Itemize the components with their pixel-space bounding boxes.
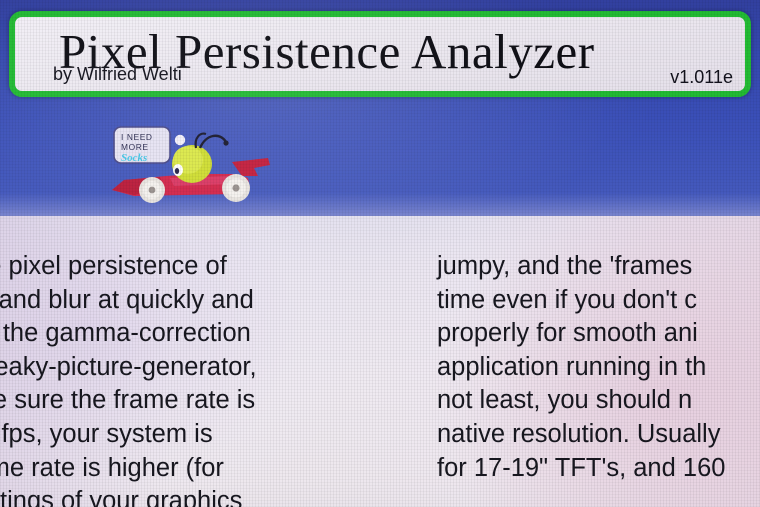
text-column-left: the pixel persistence of ks and blur at …	[0, 250, 257, 507]
version-label: v1.011e	[670, 67, 733, 88]
application-screenshot: Pixel Persistence Analyzer by Wilfried W…	[0, 0, 760, 507]
text-line: settings of your graphics	[0, 485, 257, 507]
svg-text:Socks: Socks	[121, 152, 147, 164]
text-line: not least, you should n	[437, 384, 725, 418]
body-text-region: the pixel persistence of ks and blur at …	[0, 216, 760, 507]
title-plate: Pixel Persistence Analyzer by Wilfried W…	[9, 11, 751, 97]
racecar-logo: I NEED MORE Socks	[108, 118, 278, 210]
text-line: ks and blur at quickly and	[0, 284, 257, 318]
text-line: properly for smooth ani	[437, 317, 725, 351]
author-credit: by Wilfried Welti	[53, 64, 182, 85]
text-column-right: jumpy, and the 'frames time even if you …	[437, 250, 725, 485]
text-line: rm the gamma-correction	[0, 317, 257, 351]
svg-text:MORE: MORE	[121, 142, 149, 152]
text-line: native resolution. Usually	[437, 418, 725, 452]
text-line: time even if you don't c	[437, 284, 725, 318]
text-line: application running in th	[437, 351, 725, 385]
text-line: streaky-picture-generator,	[0, 351, 257, 385]
text-line: the pixel persistence of	[0, 250, 257, 284]
text-line: 60 fps, your system is	[0, 418, 257, 452]
svg-text:I NEED: I NEED	[121, 132, 153, 142]
text-line: ake sure the frame rate is	[0, 384, 257, 418]
text-line: rame rate is higher (for	[0, 452, 257, 486]
text-line: for 17-19" TFT's, and 160	[437, 452, 725, 486]
text-line: jumpy, and the 'frames	[437, 250, 725, 284]
